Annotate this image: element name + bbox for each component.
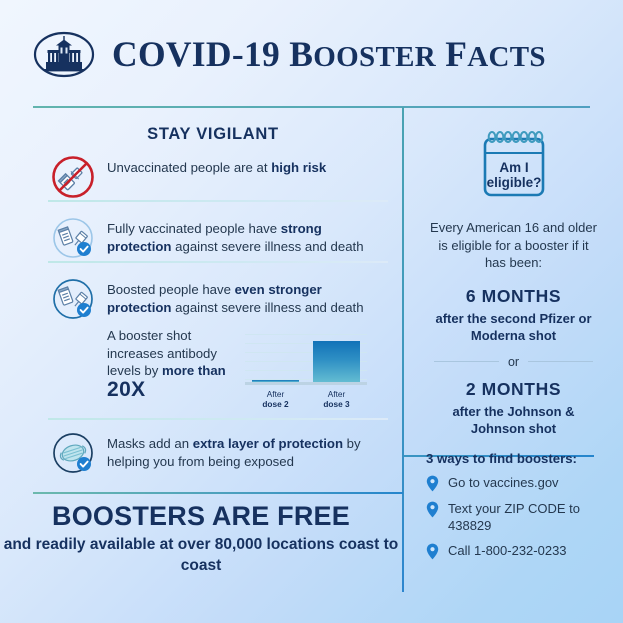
section-heading-stay-vigilant: STAY VIGILANT — [0, 107, 402, 144]
no-vaccine-icon — [50, 154, 96, 200]
item-separator-1 — [48, 200, 388, 202]
or-divider-line-right — [528, 361, 593, 362]
fact-item-boosted: Boosted people have even stronger protec… — [0, 276, 402, 322]
or-divider-line-left — [434, 361, 499, 362]
eligibility-options: 6 MONTHS after the second Pfizer or Mode… — [404, 286, 623, 437]
find-booster-text-sms: Text your ZIP CODE to 438829 — [448, 500, 623, 534]
chart-bar-after-dose-2 — [252, 380, 299, 383]
item-separator-3 — [48, 418, 388, 420]
fact-item-masks: Masks add an extra layer of protection b… — [0, 430, 402, 476]
page-title-text: COVID-19 BOOSTER FACTS — [112, 34, 546, 74]
or-divider: or — [434, 355, 593, 369]
find-boosters-section: 3 ways to find boosters: Go to vaccines.… — [404, 451, 623, 560]
eligibility-option-1-sub: after the second Pfizer or Moderna shot — [404, 310, 623, 344]
fact-text-unvaccinated: Unvaccinated people are at high risk — [107, 154, 326, 177]
notepad-icon: Am I eligible? — [472, 123, 556, 205]
infographic-page: COVID-19 BOOSTER FACTS STAY VIGILANT — [0, 0, 623, 623]
chart-bar-slot-dose2 — [245, 380, 306, 383]
fact-text-masks: Masks add an extra layer of protection b… — [107, 430, 386, 470]
chart-x-labels: After dose 2 After dose 3 — [245, 389, 367, 409]
chart-bars — [245, 334, 367, 382]
antibody-bar-chart: After dose 2 After dose 3 — [245, 334, 367, 409]
chart-caption: A booster shot increases antibody levels… — [107, 327, 235, 398]
notepad-line2-text: eligible? — [486, 175, 541, 190]
chart-x-label-dose2: After dose 2 — [245, 389, 306, 409]
antibody-chart-block: A booster shot increases antibody levels… — [0, 327, 402, 409]
chart-bar-slot-dose3 — [306, 341, 367, 382]
vaccine-check-icon — [50, 215, 96, 261]
map-pin-icon — [426, 543, 439, 560]
page-title: COVID-19 BOOSTER FACTS — [112, 33, 546, 75]
notepad-wrap: Am I eligible? — [404, 123, 623, 205]
item-separator-2 — [48, 261, 388, 263]
eligibility-intro: Every American 16 and older is eligible … — [404, 219, 623, 272]
find-boosters-heading: 3 ways to find boosters: — [426, 451, 623, 466]
fact-item-fully-vaccinated: Fully vaccinated people have strong prot… — [0, 215, 402, 261]
left-bottom-divider — [33, 492, 403, 494]
or-label: or — [499, 355, 528, 369]
booster-check-icon — [50, 276, 96, 322]
banner-subtext: and readily available at over 80,000 loc… — [0, 534, 402, 576]
mask-check-icon — [50, 430, 96, 476]
left-column: STAY VIGILANT Unvaccinated people are at… — [0, 107, 402, 492]
chart-multiplier: 20X — [107, 381, 235, 399]
right-column: Am I eligible? Every American 16 and old… — [404, 107, 623, 560]
chart-bar-after-dose-3 — [313, 341, 360, 382]
fact-item-unvaccinated: Unvaccinated people are at high risk — [0, 154, 402, 200]
chart-plot-area — [245, 334, 367, 382]
eligibility-option-2-heading: 2 MONTHS — [404, 379, 623, 400]
find-booster-option-text[interactable]: Text your ZIP CODE to 438829 — [426, 500, 623, 534]
boosters-free-banner: BOOSTERS ARE FREE and readily available … — [0, 500, 402, 576]
eligibility-option-1-heading: 6 MONTHS — [404, 286, 623, 307]
white-house-seal-icon — [33, 31, 95, 78]
find-booster-text-website: Go to vaccines.gov — [448, 474, 559, 491]
find-booster-option-call[interactable]: Call 1-800-232-0233 — [426, 542, 623, 560]
fact-text-fully-vaccinated: Fully vaccinated people have strong prot… — [107, 215, 386, 255]
fact-text-boosted: Boosted people have even stronger protec… — [107, 276, 386, 316]
chart-x-label-dose3: After dose 3 — [306, 389, 367, 409]
page-header: COVID-19 BOOSTER FACTS — [0, 0, 623, 107]
find-booster-option-website[interactable]: Go to vaccines.gov — [426, 474, 623, 492]
map-pin-icon — [426, 475, 439, 492]
eligibility-option-2-sub: after the Johnson & Johnson shot — [404, 403, 623, 437]
find-booster-text-phone: Call 1-800-232-0233 — [448, 542, 567, 559]
map-pin-icon — [426, 501, 439, 518]
chart-axis — [245, 382, 367, 385]
banner-heading: BOOSTERS ARE FREE — [0, 500, 402, 532]
notepad-line1-text: Am I — [499, 160, 528, 175]
